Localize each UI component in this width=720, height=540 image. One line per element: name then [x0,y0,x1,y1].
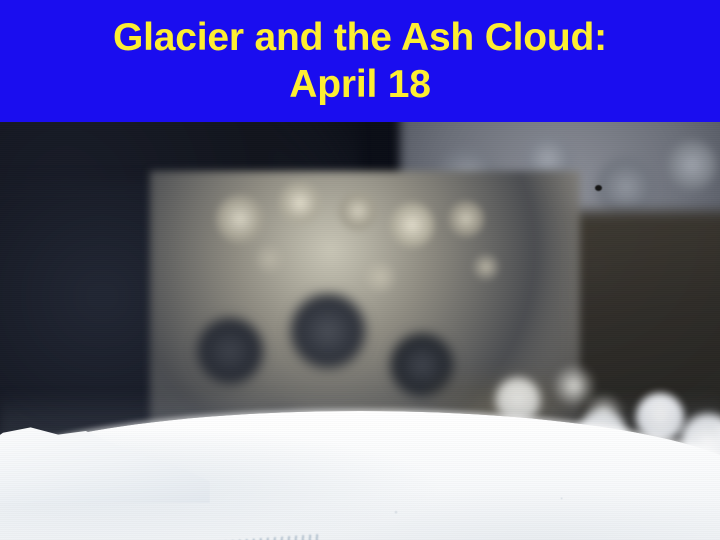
title-banner: Glacier and the Ash Cloud: April 18 [0,0,720,122]
volcano-ash-cloud-photo [0,121,720,540]
presentation-slide: Glacier and the Ash Cloud: April 18 [0,0,720,540]
dark-speck-icon [595,185,602,191]
slide-title-line-1: Glacier and the Ash Cloud: [113,14,607,61]
slide-title-line-2: April 18 [289,61,430,108]
